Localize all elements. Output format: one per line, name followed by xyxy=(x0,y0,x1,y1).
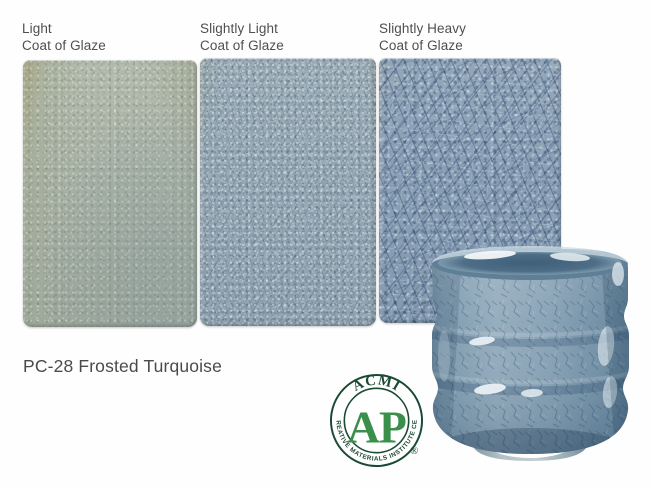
tile-label-slightly-heavy: Slightly Heavy Coat of Glaze xyxy=(379,20,466,54)
glaze-tile-light xyxy=(23,60,197,327)
product-name: PC-28 Frosted Turquoise xyxy=(23,356,222,377)
seal-center-text: AP xyxy=(347,401,406,452)
glazed-ceramic-cup xyxy=(420,246,642,466)
product-photo: Light Coat of Glaze Slightly Light Coat … xyxy=(0,0,650,488)
tile-edge-highlight xyxy=(23,60,197,327)
seal-registered-mark: ® xyxy=(410,445,418,457)
tile-edge-highlight xyxy=(200,58,376,326)
tile-label-light: Light Coat of Glaze xyxy=(22,20,106,54)
glaze-tile-slightly-light xyxy=(200,58,376,326)
tile-label-slightly-light: Slightly Light Coat of Glaze xyxy=(200,20,284,54)
acmi-ap-seal: ACMI AP ART & CREATIVE MATERIALS INSTITU… xyxy=(327,371,426,470)
